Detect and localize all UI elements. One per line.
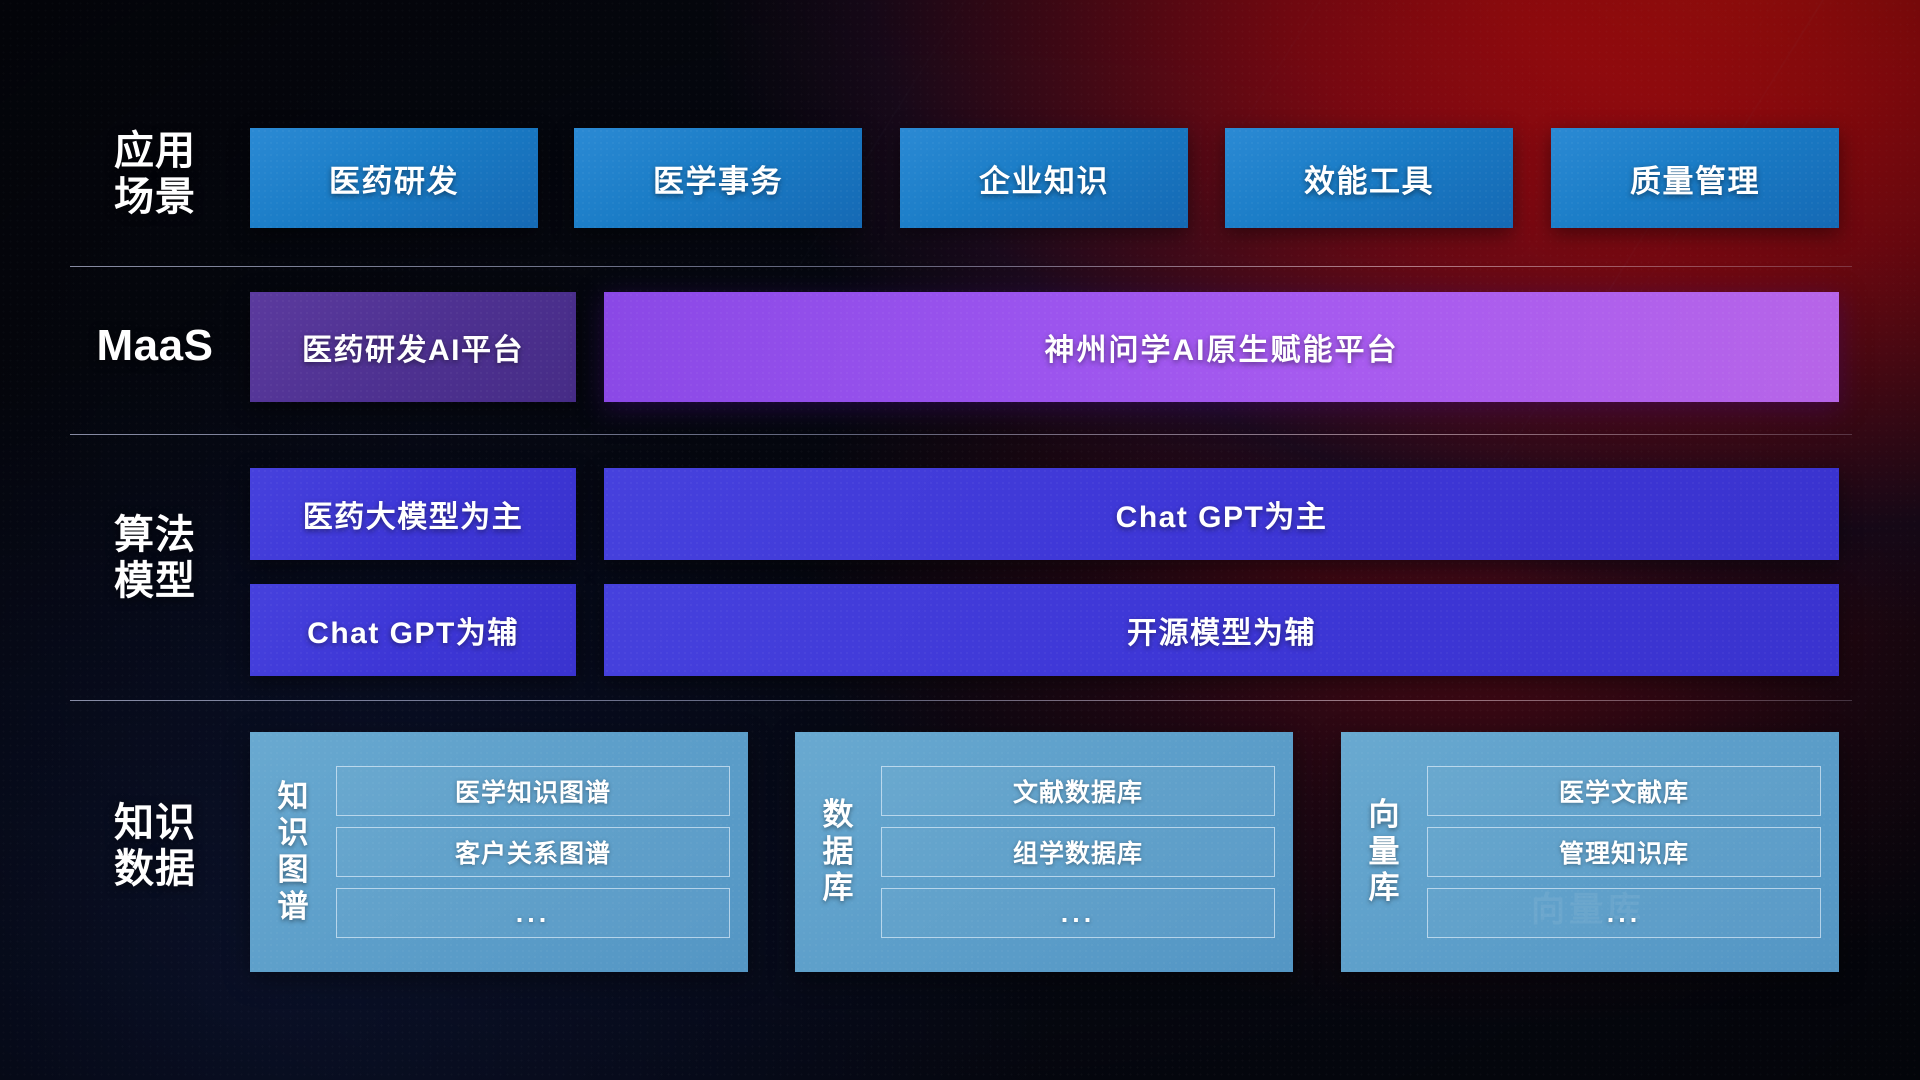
diagram-canvas: 应用 场景 医药研发 医学事务 企业知识 效能工具 质量管理 MaaS 医药研发… bbox=[0, 0, 1920, 1080]
row-label-line1: 知识 bbox=[60, 800, 250, 846]
watermark-text: 向量库 bbox=[1531, 882, 1645, 931]
divider-1 bbox=[70, 266, 1852, 267]
vertical-char: 据 bbox=[823, 834, 854, 871]
row-label-application-scenarios: 应用 场景 bbox=[60, 128, 250, 221]
vertical-char: 量 bbox=[1369, 834, 1400, 871]
panel-items-database: 文献数据库 组学数据库 ... bbox=[881, 766, 1275, 938]
app-card-4[interactable]: 质量管理 bbox=[1551, 128, 1839, 228]
vertical-char: 知 bbox=[278, 779, 309, 816]
algo-card-label: 医药大模型为主 bbox=[303, 492, 524, 536]
divider-3 bbox=[70, 700, 1852, 701]
app-card-1[interactable]: 医学事务 bbox=[574, 128, 862, 228]
row-label-line2: 数据 bbox=[60, 846, 250, 892]
knowledge-item-more[interactable]: ... bbox=[881, 888, 1275, 938]
vertical-char: 向 bbox=[1369, 797, 1400, 834]
app-card-label: 医药研发 bbox=[329, 156, 459, 201]
app-card-label: 企业知识 bbox=[979, 156, 1109, 201]
algo-card-3[interactable]: 开源模型为辅 bbox=[604, 584, 1839, 676]
vertical-char: 数 bbox=[823, 797, 854, 834]
algo-card-label: 开源模型为辅 bbox=[1127, 608, 1316, 652]
vertical-char: 库 bbox=[1369, 870, 1400, 907]
app-card-3[interactable]: 效能工具 bbox=[1225, 128, 1513, 228]
app-card-label: 效能工具 bbox=[1304, 156, 1434, 201]
knowledge-panel-database[interactable]: 数 据 库 文献数据库 组学数据库 ... bbox=[795, 732, 1293, 972]
algo-card-1[interactable]: Chat GPT为主 bbox=[604, 468, 1839, 560]
algo-card-2[interactable]: Chat GPT为辅 bbox=[250, 584, 576, 676]
app-card-0[interactable]: 医药研发 bbox=[250, 128, 538, 228]
knowledge-item[interactable]: 文献数据库 bbox=[881, 766, 1275, 816]
vertical-char: 库 bbox=[823, 870, 854, 907]
maas-card-platform-shenzhou[interactable]: 神州问学AI原生赋能平台 bbox=[604, 292, 1839, 402]
vertical-char: 识 bbox=[278, 815, 309, 852]
panel-items-graph: 医学知识图谱 客户关系图谱 ... bbox=[336, 766, 730, 938]
row-label-maas: MaaS bbox=[60, 320, 250, 371]
row-label-line2: 模型 bbox=[60, 558, 250, 604]
maas-card-label: 神州问学AI原生赋能平台 bbox=[1045, 325, 1399, 369]
row-label-text: MaaS bbox=[60, 320, 250, 371]
row-label-knowledge-data: 知识 数据 bbox=[60, 800, 250, 893]
knowledge-item[interactable]: 医学知识图谱 bbox=[336, 766, 730, 816]
row-label-line1: 算法 bbox=[60, 512, 250, 558]
knowledge-item[interactable]: 组学数据库 bbox=[881, 827, 1275, 877]
maas-card-platform-pharma[interactable]: 医药研发AI平台 bbox=[250, 292, 576, 402]
row-label-line2: 场景 bbox=[60, 174, 250, 220]
app-card-label: 质量管理 bbox=[1630, 156, 1760, 201]
divider-2 bbox=[70, 434, 1852, 435]
row-label-line1: 应用 bbox=[60, 128, 250, 174]
knowledge-item[interactable]: 客户关系图谱 bbox=[336, 827, 730, 877]
vertical-char: 图 bbox=[278, 852, 309, 889]
vertical-char: 谱 bbox=[278, 889, 309, 926]
knowledge-panel-graph[interactable]: 知 识 图 谱 医学知识图谱 客户关系图谱 ... bbox=[250, 732, 748, 972]
knowledge-panel-vector[interactable]: 向量库 向 量 库 医学文献库 管理知识库 ... bbox=[1341, 732, 1839, 972]
app-card-label: 医学事务 bbox=[653, 156, 783, 201]
algo-card-0[interactable]: 医药大模型为主 bbox=[250, 468, 576, 560]
knowledge-item-more[interactable]: ... bbox=[336, 888, 730, 938]
app-card-2[interactable]: 企业知识 bbox=[900, 128, 1188, 228]
maas-card-label: 医药研发AI平台 bbox=[302, 325, 524, 369]
knowledge-item[interactable]: 医学文献库 bbox=[1427, 766, 1821, 816]
knowledge-item[interactable]: 管理知识库 bbox=[1427, 827, 1821, 877]
panel-vertical-label-graph: 知 识 图 谱 bbox=[264, 779, 322, 925]
algo-card-label: Chat GPT为辅 bbox=[307, 608, 519, 652]
panel-vertical-label-database: 数 据 库 bbox=[809, 797, 867, 907]
panel-vertical-label-vector: 向 量 库 bbox=[1355, 797, 1413, 907]
row-label-algorithm-model: 算法 模型 bbox=[60, 512, 250, 605]
algo-card-label: Chat GPT为主 bbox=[1116, 492, 1328, 536]
